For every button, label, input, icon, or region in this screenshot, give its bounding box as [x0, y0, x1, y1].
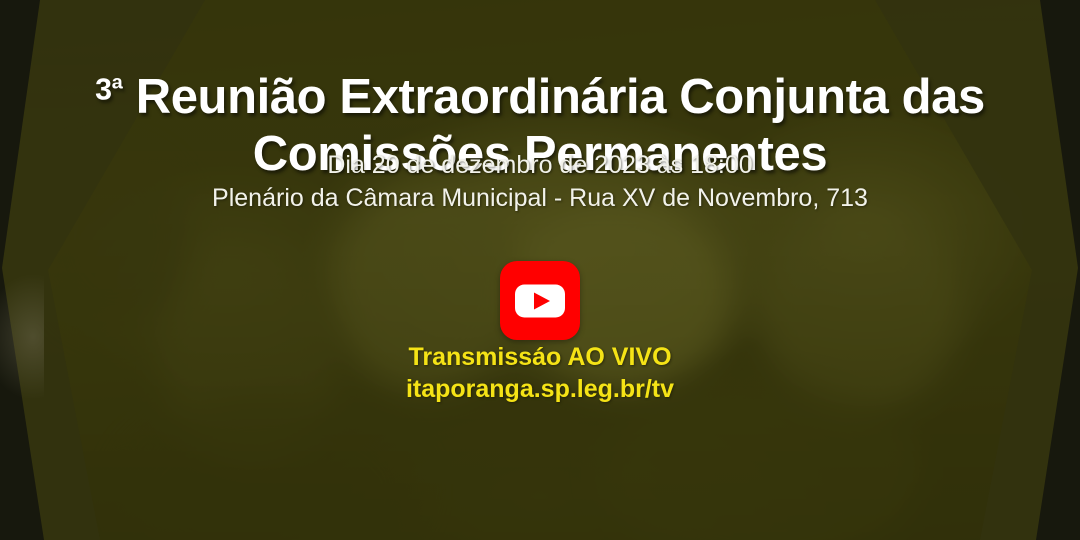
- banner-content: 3ª Reunião Extraordinária Conjunta das C…: [0, 0, 1080, 540]
- live-label: Transmissáo AO VIVO: [0, 341, 1080, 373]
- event-title-line-1-text: Reunião Extraordinária Conjunta das: [123, 70, 985, 124]
- event-title-line-1: 3ª Reunião Extraordinária Conjunta das: [60, 69, 1020, 126]
- live-url[interactable]: itaporanga.sp.leg.br/tv: [0, 373, 1080, 405]
- event-location: Plenário da Câmara Municipal - Rua XV de…: [0, 182, 1080, 215]
- event-details: Dia 20 de dezembro de 2023 às 18:00 Plen…: [0, 149, 1080, 216]
- live-stream-info: Transmissáo AO VIVO itaporanga.sp.leg.br…: [0, 341, 1080, 405]
- event-banner: 3ª Reunião Extraordinária Conjunta das C…: [0, 0, 1080, 540]
- youtube-icon[interactable]: [500, 261, 580, 340]
- youtube-icon-container[interactable]: [500, 261, 580, 340]
- event-datetime: Dia 20 de dezembro de 2023 às 18:00: [0, 149, 1080, 182]
- event-title-ordinal: 3ª: [95, 72, 122, 106]
